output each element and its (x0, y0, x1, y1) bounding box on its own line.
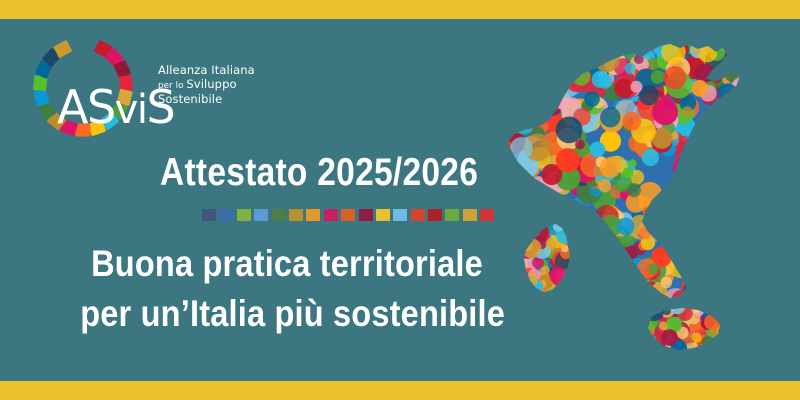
sdg-chip-8 (324, 209, 338, 221)
map-dot-cluster (491, 27, 758, 364)
sdg-chip-9 (341, 209, 355, 221)
sdg-chip-4 (254, 209, 268, 221)
tagline-line-2-prefix: per lo (158, 81, 186, 91)
subtitle-line-1: Buona pratica territoriale (80, 239, 494, 289)
sdg-chip-12 (393, 209, 407, 221)
map-dots-sicily (634, 297, 734, 364)
logo-tagline: Alleanza Italiana per lo Sviluppo Sosten… (158, 64, 255, 107)
sdg-chip-5 (272, 209, 286, 221)
sdg-chip-15 (445, 209, 459, 221)
tagline-line-2-main: Sviluppo (186, 77, 236, 91)
asvis-logo: ASviS Alleanza Italiana per lo Sviluppo … (27, 34, 277, 139)
sdg-chip-16 (463, 209, 477, 221)
subtitle-block: Buona pratica territoriale per un’Italia… (52, 239, 522, 339)
sdg-chip-14 (428, 209, 442, 221)
sdg-chip-7 (306, 209, 320, 221)
sdg-chip-3 (237, 209, 251, 221)
sdg-chip-10 (359, 209, 373, 221)
wordmark-as: AS (57, 80, 115, 134)
tagline-line-2: per lo Sviluppo (158, 78, 255, 94)
sdg-chip-2 (219, 209, 233, 221)
certificate-banner: ASviS Alleanza Italiana per lo Sviluppo … (0, 0, 800, 400)
logo-wordmark: ASviS (57, 84, 174, 130)
sdg-chip-1 (202, 209, 216, 221)
ring-segment-13 (33, 89, 49, 107)
sdg-chip-13 (411, 209, 425, 221)
sdg-chip-17 (480, 209, 494, 221)
tagline-line-1: Alleanza Italiana (158, 64, 255, 78)
sdg-chip-6 (289, 209, 303, 221)
sdg-chip-11 (376, 209, 390, 221)
subtitle-line-2: per un’Italia più sostenibile (80, 289, 494, 339)
page-title: Attestato 2025/2026 (160, 151, 478, 195)
bottom-accent-bar (0, 381, 800, 400)
wordmark-vi: vi (115, 87, 147, 133)
tagline-line-3: Sostenibile (158, 93, 255, 107)
sdg-color-strip (202, 209, 494, 221)
